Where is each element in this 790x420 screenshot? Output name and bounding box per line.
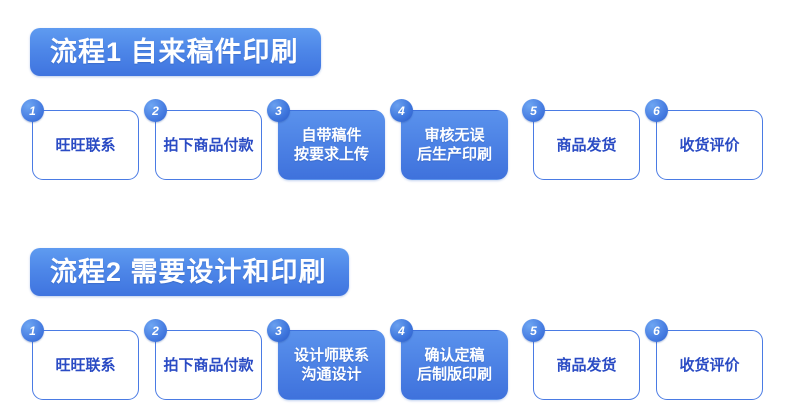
section-1-header-pill: 流程1 自来稿件印刷 — [30, 28, 321, 76]
step-number-badge: 6 — [645, 99, 668, 122]
step-label: 旺旺联系 — [55, 356, 115, 375]
step-2-4[interactable]: 4 确认定稿 后制版印刷 — [401, 330, 508, 400]
step-number-badge: 3 — [267, 99, 290, 122]
step-number-badge: 6 — [645, 319, 668, 342]
step-number-badge: 4 — [390, 99, 413, 122]
section-2-header-label: 流程2 需要设计和印刷 — [50, 259, 327, 286]
section-2-header-pill: 流程2 需要设计和印刷 — [30, 248, 349, 296]
step-label: 审核无误 后生产印刷 — [417, 126, 492, 164]
flow-diagram-page: 流程1 自来稿件印刷 1 旺旺联系 2 拍下商品付款 3 自带稿件 按要求上传 — [0, 0, 790, 420]
step-label-line2: 后生产印刷 — [417, 145, 492, 164]
step-label: 商品发货 — [556, 356, 616, 375]
step-label-line1: 拍下商品付款 — [163, 137, 253, 154]
step-number-badge: 1 — [21, 99, 44, 122]
step-label-line1: 审核无误 — [424, 127, 484, 144]
step-label-line1: 收货评价 — [679, 137, 739, 154]
step-number-badge: 1 — [21, 319, 44, 342]
step-1-5[interactable]: 5 商品发货 — [533, 110, 640, 180]
step-label-line2: 按要求上传 — [294, 145, 369, 164]
step-label-line1: 旺旺联系 — [55, 357, 115, 374]
section-1-steps-row: 1 旺旺联系 2 拍下商品付款 3 自带稿件 按要求上传 4 — [0, 96, 790, 192]
step-number-badge: 3 — [267, 319, 290, 342]
step-label: 设计师联系 沟通设计 — [294, 346, 369, 384]
step-label-line2: 沟通设计 — [294, 365, 369, 384]
step-label-line1: 商品发货 — [556, 137, 616, 154]
step-label: 商品发货 — [556, 136, 616, 155]
step-label: 拍下商品付款 — [163, 136, 253, 155]
step-label-line1: 收货评价 — [679, 357, 739, 374]
step-1-3[interactable]: 3 自带稿件 按要求上传 — [278, 110, 385, 180]
step-2-1[interactable]: 1 旺旺联系 — [32, 330, 139, 400]
step-label: 收货评价 — [679, 136, 739, 155]
step-2-6[interactable]: 6 收货评价 — [656, 330, 763, 400]
step-2-5[interactable]: 5 商品发货 — [533, 330, 640, 400]
step-label: 旺旺联系 — [55, 136, 115, 155]
step-1-4[interactable]: 4 审核无误 后生产印刷 — [401, 110, 508, 180]
step-label: 自带稿件 按要求上传 — [294, 126, 369, 164]
step-label: 确认定稿 后制版印刷 — [417, 346, 492, 384]
step-label-line1: 自带稿件 — [301, 127, 361, 144]
step-1-6[interactable]: 6 收货评价 — [656, 110, 763, 180]
section-1-header-label: 流程1 自来稿件印刷 — [50, 39, 299, 66]
step-label-line1: 商品发货 — [556, 357, 616, 374]
step-label: 拍下商品付款 — [163, 356, 253, 375]
step-1-2[interactable]: 2 拍下商品付款 — [155, 110, 262, 180]
section-2-steps-row: 1 旺旺联系 2 拍下商品付款 3 设计师联系 沟通设计 4 — [0, 316, 790, 412]
step-number-badge: 2 — [144, 99, 167, 122]
step-number-badge: 5 — [522, 99, 545, 122]
step-1-1[interactable]: 1 旺旺联系 — [32, 110, 139, 180]
step-label-line1: 设计师联系 — [294, 347, 369, 364]
step-2-2[interactable]: 2 拍下商品付款 — [155, 330, 262, 400]
step-number-badge: 2 — [144, 319, 167, 342]
step-label: 收货评价 — [679, 356, 739, 375]
step-label-line2: 后制版印刷 — [417, 365, 492, 384]
step-label-line1: 旺旺联系 — [55, 137, 115, 154]
step-label-line1: 拍下商品付款 — [163, 357, 253, 374]
step-label-line1: 确认定稿 — [424, 347, 484, 364]
step-number-badge: 4 — [390, 319, 413, 342]
step-number-badge: 5 — [522, 319, 545, 342]
step-2-3[interactable]: 3 设计师联系 沟通设计 — [278, 330, 385, 400]
